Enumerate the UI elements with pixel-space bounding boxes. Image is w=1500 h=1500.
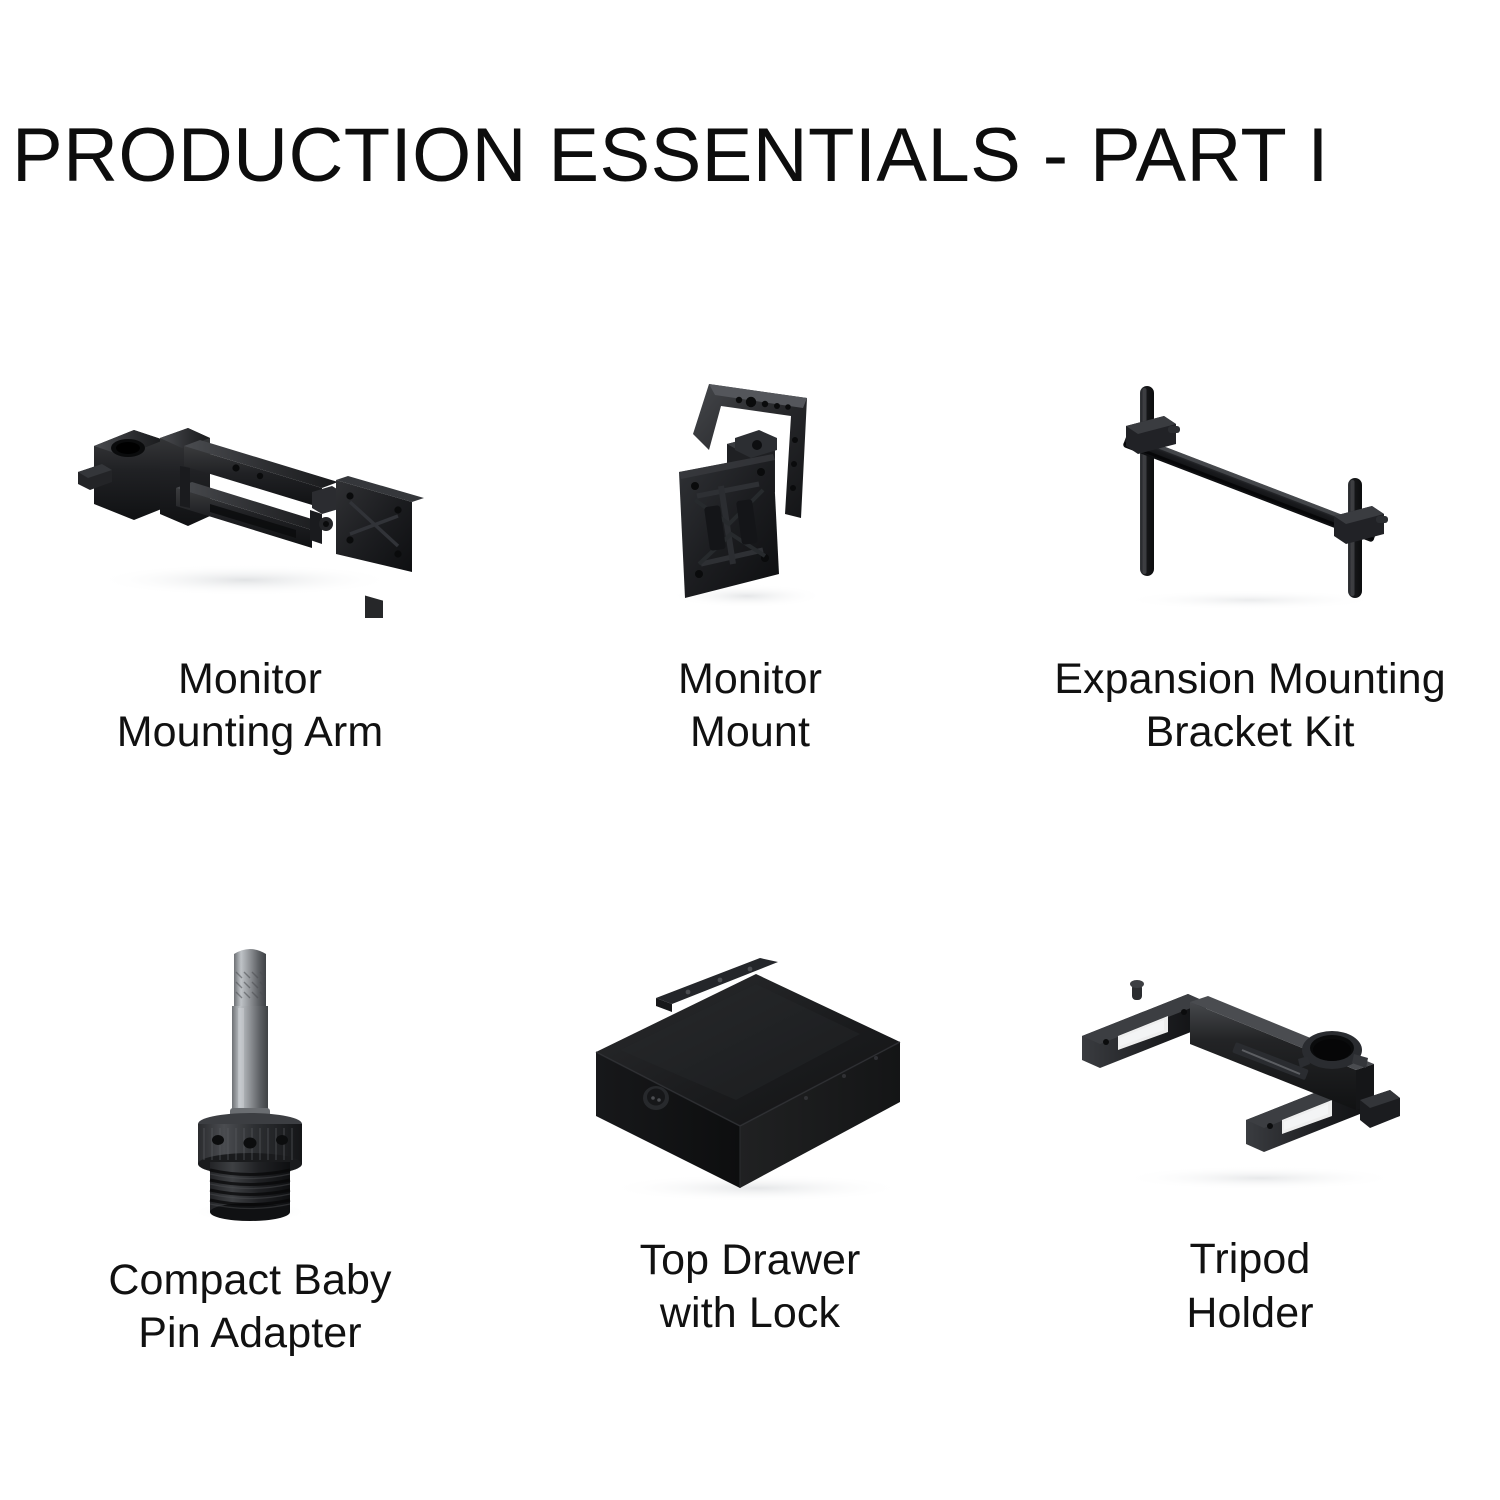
product-label-line1: Top Drawer: [640, 1236, 861, 1284]
product-label-line1: Monitor: [678, 655, 822, 703]
product-label-line1: Compact Baby: [108, 1256, 391, 1304]
product-image-expansion-mounting-bracket-kit: [1020, 360, 1480, 625]
monitor-mount-icon: [635, 368, 865, 618]
product-label-line2: Pin Adapter: [108, 1307, 391, 1360]
tripod-holder-icon: [1060, 950, 1440, 1200]
product-image-top-drawer-with-lock: [520, 940, 980, 1210]
product-caption: Expansion Mounting Bracket Kit: [1054, 653, 1445, 760]
product-caption: Compact Baby Pin Adapter: [108, 1254, 391, 1361]
product-caption: Monitor Mount: [678, 653, 822, 760]
product-label-line1: Expansion Mounting: [1054, 655, 1445, 703]
product-grid: Monitor Mounting Arm: [0, 360, 1500, 1340]
page-title: PRODUCTION ESSENTIALS - PART I: [12, 118, 1329, 194]
product-card-top-drawer-with-lock[interactable]: Top Drawer with Lock: [500, 940, 1000, 1340]
product-image-monitor-mounting-arm: [20, 360, 480, 625]
product-caption: Tripod Holder: [1186, 1233, 1313, 1340]
product-label-line1: Monitor: [178, 655, 322, 703]
product-card-compact-baby-pin-adapter[interactable]: Compact Baby Pin Adapter: [0, 940, 500, 1340]
product-label-line2: Mount: [678, 706, 822, 759]
product-label-line1: Tripod: [1190, 1235, 1311, 1283]
product-card-expansion-mounting-bracket-kit[interactable]: Expansion Mounting Bracket Kit: [1000, 360, 1500, 760]
product-image-compact-baby-pin-adapter: [20, 940, 480, 1230]
product-card-monitor-mounting-arm[interactable]: Monitor Mounting Arm: [0, 360, 500, 760]
product-lineup-page: PRODUCTION ESSENTIALS - PART I: [0, 0, 1500, 1500]
product-label-line2: with Lock: [640, 1287, 861, 1340]
top-drawer-with-lock-icon: [560, 940, 940, 1210]
product-image-monitor-mount: [520, 360, 980, 625]
product-image-tripod-holder: [1020, 940, 1480, 1209]
product-card-monitor-mount[interactable]: Monitor Mount: [500, 360, 1000, 760]
product-card-tripod-holder[interactable]: Tripod Holder: [1000, 940, 1500, 1340]
monitor-mounting-arm-icon: [60, 368, 440, 618]
product-caption: Monitor Mounting Arm: [117, 653, 384, 760]
expansion-mounting-bracket-kit-icon: [1080, 368, 1420, 618]
product-label-line2: Bracket Kit: [1054, 706, 1445, 759]
compact-baby-pin-adapter-icon: [160, 940, 340, 1230]
drawer-lock-knob: [643, 1086, 669, 1110]
product-label-line2: Holder: [1186, 1287, 1313, 1340]
product-caption: Top Drawer with Lock: [640, 1234, 861, 1341]
product-label-line2: Mounting Arm: [117, 706, 384, 759]
